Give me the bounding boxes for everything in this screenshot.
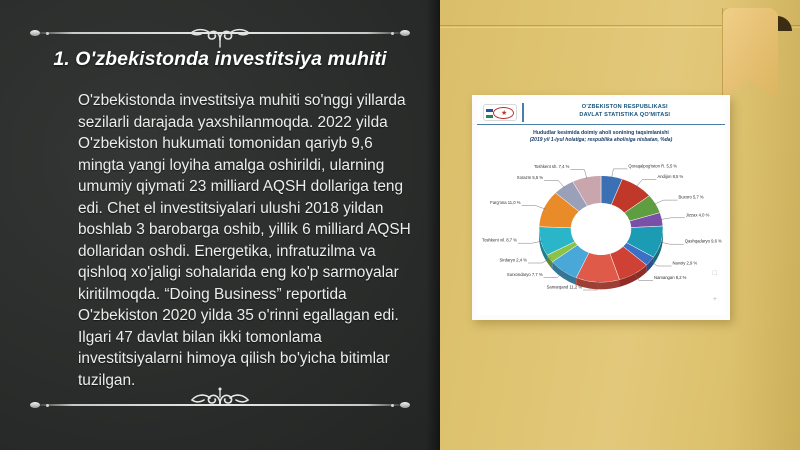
svg-text:Jizzax 4,0 %: Jizzax 4,0 % <box>686 212 710 217</box>
top-flourish-ornament-icon <box>172 20 268 50</box>
chart-title: Hududlar kesimida doimiy aholi sonining … <box>487 130 715 137</box>
left-content-panel: 1. O'zbekistonda investitsiya muhiti O'z… <box>0 0 440 450</box>
bookmark-ribbon-icon <box>722 8 778 100</box>
chart-subtitle: (2019 yil 1-iyul holatiga; respublika ah… <box>487 137 715 144</box>
svg-text:Xorazm 5,5 %: Xorazm 5,5 % <box>517 175 544 180</box>
svg-text:Namangan 8,2 %: Namangan 8,2 % <box>654 275 687 280</box>
watermark-plus: + <box>713 296 717 303</box>
chart-header: ★ O'ZBEKISTON RESPUBLIKASI DAVLAT STATIS… <box>477 100 725 125</box>
svg-text:Farg'ona 11,0 %: Farg'ona 11,0 % <box>490 200 521 205</box>
svg-text:Surxondaryo 7,7 %: Surxondaryo 7,7 % <box>507 272 543 277</box>
header-divider <box>522 103 524 122</box>
chart-title-block: Hududlar kesimida doimiy aholi sonining … <box>477 125 725 145</box>
donut-chart: Qoraqalpog'iston R. 5,5 %Andijon 8,5 %Bu… <box>477 147 725 315</box>
page-title: 1. O'zbekistonda investitsiya muhiti <box>0 48 440 71</box>
slide-root: 1. O'zbekistonda investitsiya muhiti O'z… <box>0 0 800 450</box>
svg-text:Toshkent vil. 8,7 %: Toshkent vil. 8,7 % <box>482 238 517 243</box>
watermark-square: □ <box>713 270 717 277</box>
svg-text:Qoraqalpog'iston R. 5,5 %: Qoraqalpog'iston R. 5,5 % <box>628 163 677 168</box>
svg-text:Qashqadaryo 9,6 %: Qashqadaryo 9,6 % <box>685 238 722 243</box>
bottom-divider-rule <box>30 400 410 410</box>
svg-text:Andijon 8,5 %: Andijon 8,5 % <box>657 174 683 179</box>
chart-org-titles: O'ZBEKISTON RESPUBLIKASI DAVLAT STATISTI… <box>531 104 720 119</box>
svg-text:Sirdaryo 2,4 %: Sirdaryo 2,4 % <box>500 257 528 262</box>
chart-image-card: ★ O'ZBEKISTON RESPUBLIKASI DAVLAT STATIS… <box>472 95 730 320</box>
svg-text:Samarqand 11,2 %: Samarqand 11,2 % <box>547 284 583 289</box>
org-line-2: DAVLAT STATISTIKA QO'MITASI <box>531 112 720 120</box>
org-line-1: O'ZBEKISTON RESPUBLIKASI <box>531 104 720 112</box>
body-paragraph: O'zbekistonda investitsiya muhiti so'ngg… <box>78 90 418 391</box>
state-emblem-icon: ★ <box>483 104 517 121</box>
svg-text:Toshkent sh. 7,4 %: Toshkent sh. 7,4 % <box>534 164 570 169</box>
svg-text:Navoiy 2,9 %: Navoiy 2,9 % <box>673 260 698 265</box>
panel-edge-shadow <box>426 0 440 450</box>
svg-text:Buxoro 5,7 %: Buxoro 5,7 % <box>679 194 704 199</box>
